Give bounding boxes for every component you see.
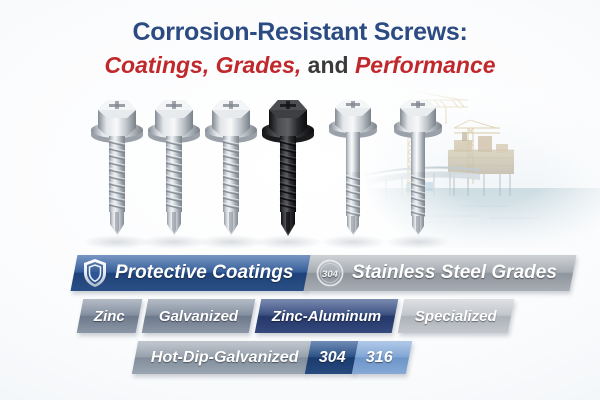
badge-label: 316 <box>366 349 393 367</box>
row-specific-grades: Hot-Dip-Galvanized 304 316 <box>0 341 600 374</box>
screw-black-coated <box>262 100 314 236</box>
badge-specialized[interactable]: Specialized <box>398 299 514 333</box>
badge-protective-coatings[interactable]: Protective Coatings <box>71 255 313 291</box>
screw-zinc-aluminum <box>205 100 257 236</box>
badge-label: Galvanized <box>159 308 238 325</box>
badge-grade-316[interactable]: 316 <box>352 341 412 374</box>
badge-label: Zinc <box>94 308 125 325</box>
screw-stainless-316 <box>394 100 442 236</box>
screw-zinc-plated <box>91 100 143 236</box>
badge-label: Protective Coatings <box>115 262 293 284</box>
page-subtitle: Coatings, Grades, and Performance <box>0 52 600 78</box>
badge-label: Stainless Steel Grades <box>352 262 557 284</box>
subtitle-conjunction: and <box>308 52 349 78</box>
badge-galvanized[interactable]: Galvanized <box>142 299 256 333</box>
grade-icon-text: 304 <box>323 269 340 280</box>
screw-galvanized <box>148 100 200 236</box>
badge-grade-304[interactable]: 304 <box>304 341 359 374</box>
row-coating-types: Zinc Galvanized Zinc-Aluminum Specialize… <box>0 299 600 333</box>
subtitle-part-performance: Performance <box>355 52 496 78</box>
badge-zinc[interactable]: Zinc <box>77 299 142 333</box>
badge-label: Specialized <box>415 308 497 325</box>
badge-label: Hot-Dip-Galvanized <box>151 349 299 367</box>
badge-stainless-steel-grades[interactable]: 304 Stainless Steel Grades <box>304 255 577 291</box>
badge-zinc-aluminum[interactable]: Zinc-Aluminum <box>255 299 399 333</box>
screw-stainless-304 <box>329 100 377 236</box>
badge-hot-dip-galvanized[interactable]: Hot-Dip-Galvanized <box>132 341 312 374</box>
page-title: Corrosion-Resistant Screws: <box>0 18 600 47</box>
infographic-canvas: Corrosion-Resistant Screws: Coatings, Gr… <box>0 0 600 400</box>
badge-label: Zinc-Aluminum <box>272 308 381 325</box>
grade-304-icon: 304 <box>315 258 352 288</box>
title-block: Corrosion-Resistant Screws: Coatings, Gr… <box>0 18 600 78</box>
badge-label: 304 <box>319 349 346 367</box>
row-categories: Protective Coatings 304 Stainless Steel … <box>0 255 600 291</box>
badge-rows: Protective Coatings 304 Stainless Steel … <box>0 255 600 374</box>
subtitle-part-coatings-grades: Coatings, Grades, <box>104 52 301 78</box>
shield-icon <box>82 258 115 288</box>
